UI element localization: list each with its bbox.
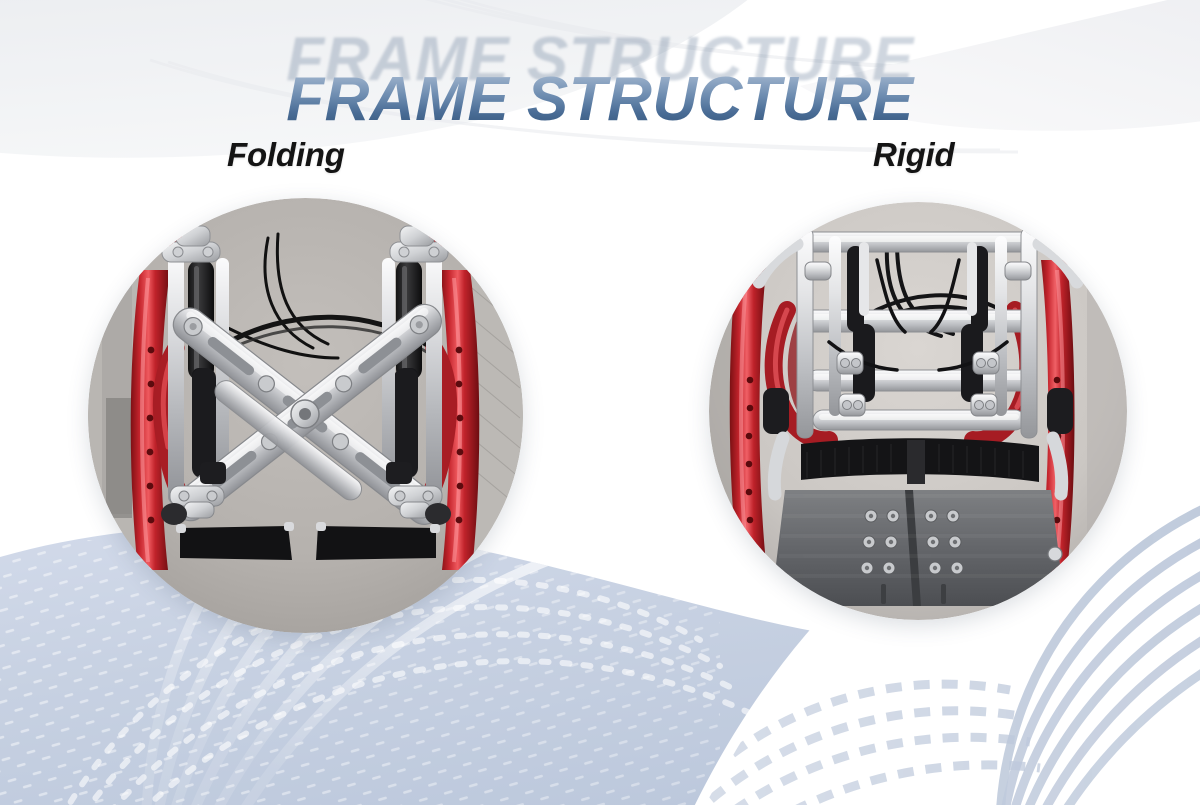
folding-frame-photo: [88, 198, 523, 633]
damper-lower-left: [192, 368, 216, 478]
page-title: FRAME STRUCTURE: [0, 64, 1200, 135]
rigid-frame-photo: [709, 202, 1127, 620]
footplate: [771, 490, 1065, 606]
infographic-canvas: FRAME STRUCTURE FRAME STRUCTURE: [0, 0, 1200, 805]
rigid-frame-illustration: [709, 202, 1127, 620]
caption-rigid: Rigid: [873, 136, 954, 174]
bottom-right-blue-wedge: [1045, 652, 1200, 805]
caption-folding: Folding: [227, 136, 345, 174]
folding-frame-illustration: [88, 198, 523, 633]
damper-lower-right: [394, 368, 418, 478]
